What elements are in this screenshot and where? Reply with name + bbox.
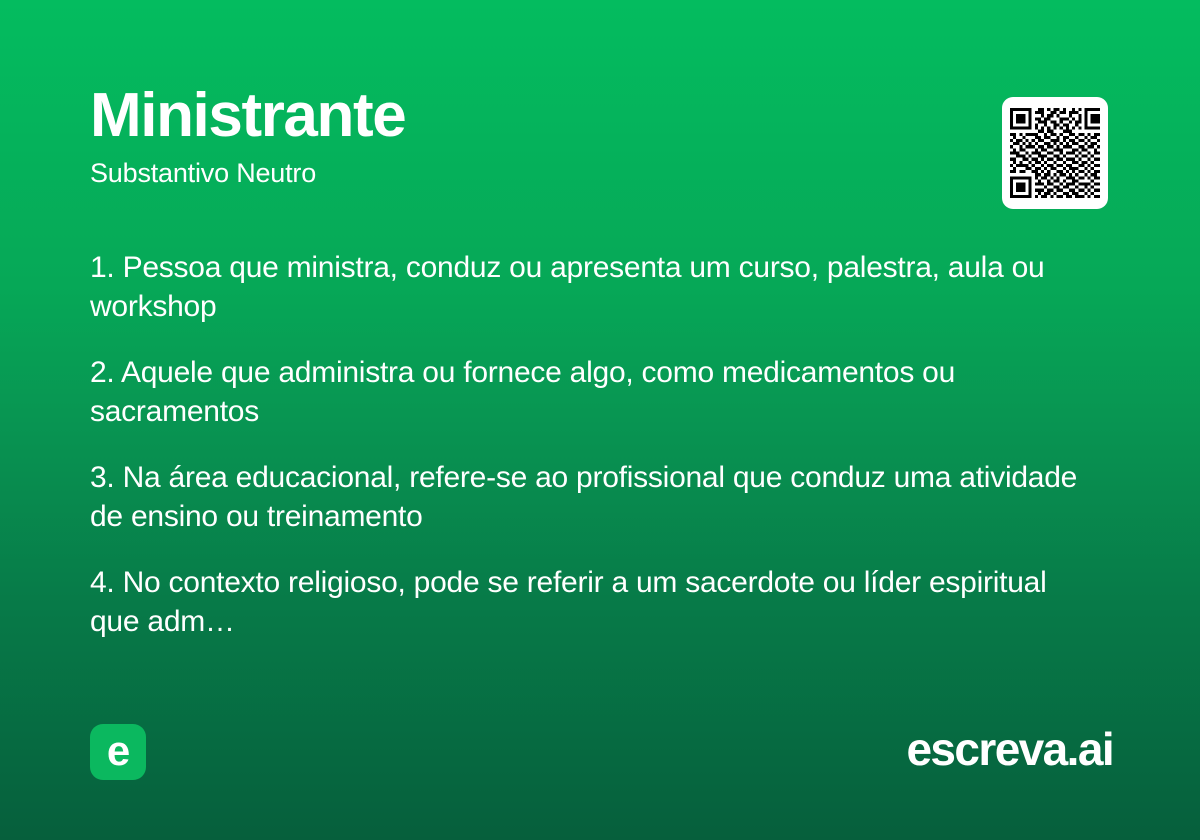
brand-wordmark: escreva.ai [906,723,1113,776]
qr-code-icon [1010,106,1100,200]
definition-item: 3. Na área educacional, refere-se ao pro… [90,458,1100,536]
page-title: Ministrante [90,84,950,147]
definition-item: 2. Aquele que administra ou fornece algo… [90,353,1100,431]
brand-logo-letter: e [107,730,129,772]
definition-item: 1. Pessoa que ministra, conduz ou aprese… [90,248,1100,326]
brand-logo-icon: e [90,724,146,780]
word-definition-card: Ministrante Substantivo Neutro 1. Pessoa… [0,0,1200,840]
definition-list: 1. Pessoa que ministra, conduz ou aprese… [90,248,1100,641]
word-class-label: Substantivo Neutro [90,158,950,189]
definition-item: 4. No contexto religioso, pode se referi… [90,563,1100,641]
qr-code-panel[interactable] [1002,97,1108,209]
card-header: Ministrante Substantivo Neutro [90,84,950,189]
